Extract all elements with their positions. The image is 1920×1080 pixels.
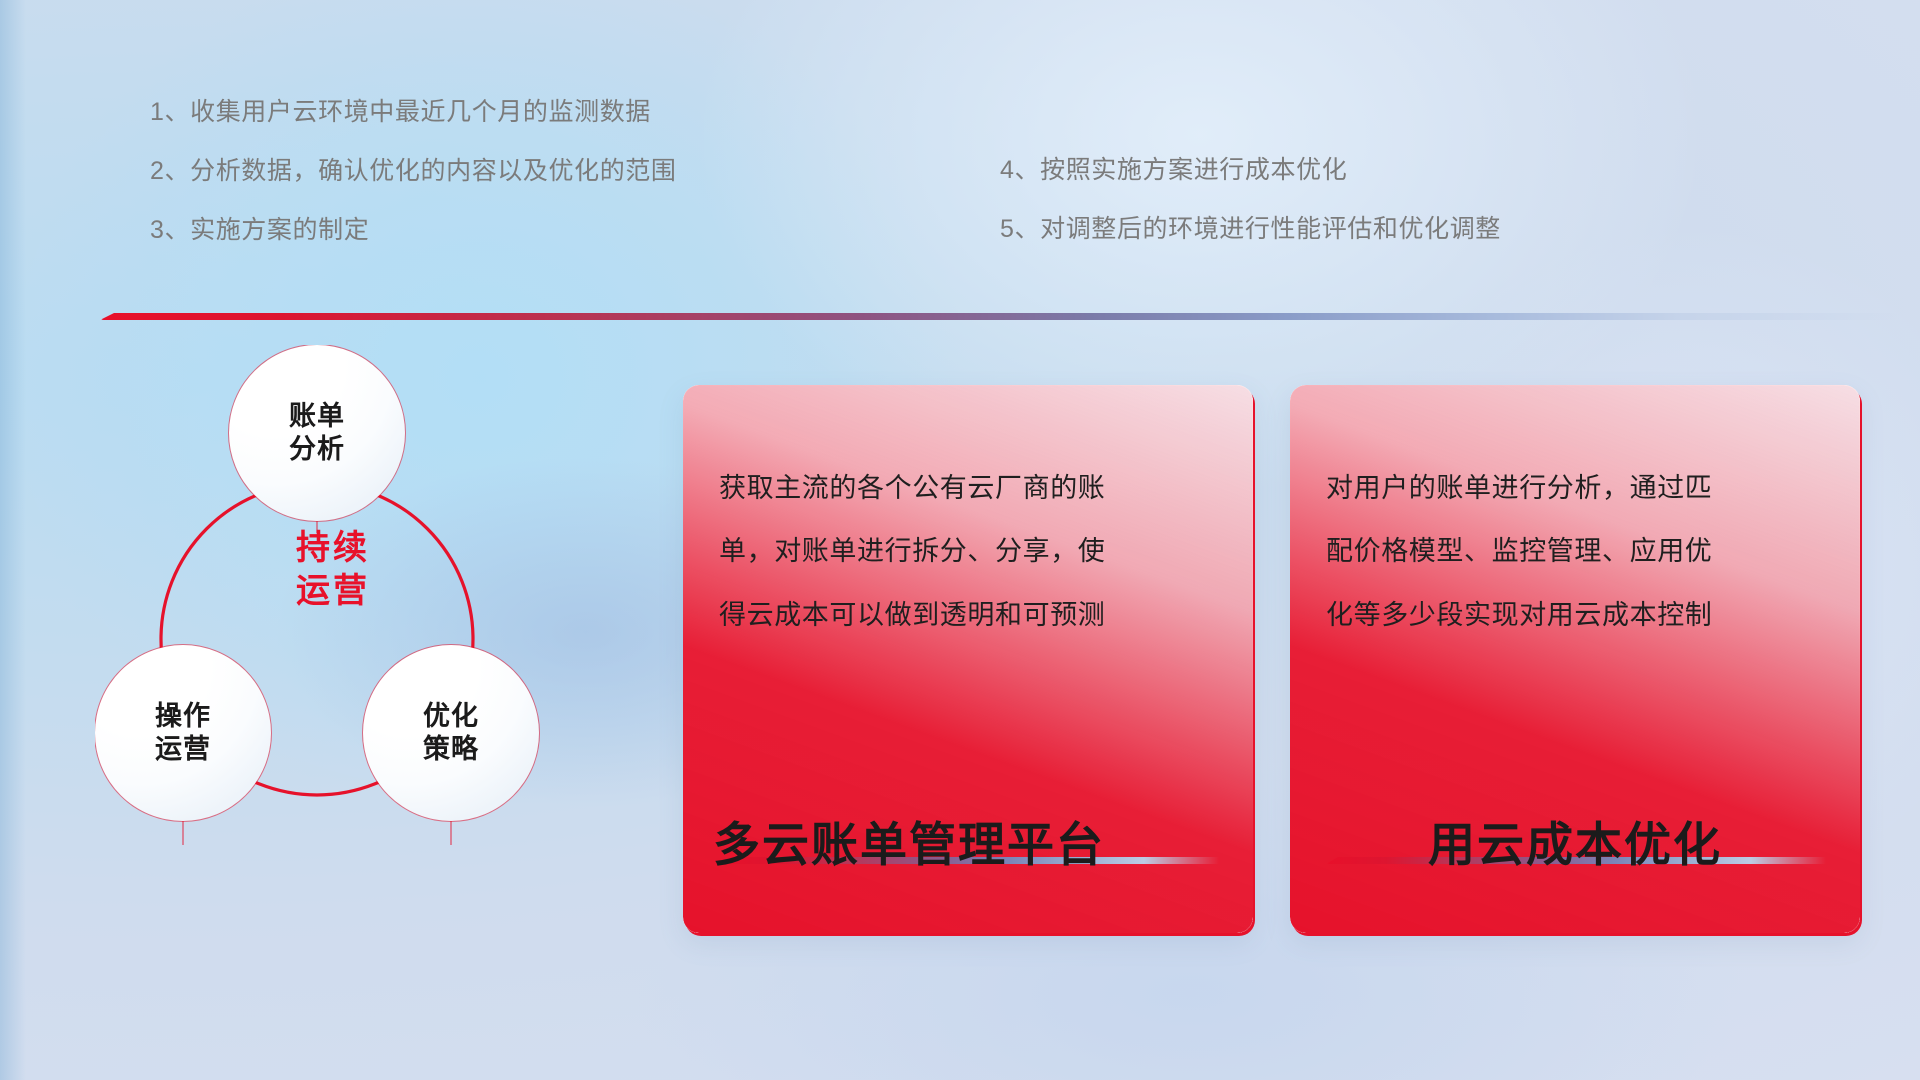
feature-card-cloud-cost-optimization[interactable]: 对用户的账单进行分析，通过匹 配价格模型、监控管理、应用优 化等多少段实现对用云… <box>1290 385 1860 933</box>
card-description-line: 得云成本可以做到透明和可预测 <box>719 584 1223 647</box>
node-label-line2: 分析 <box>289 433 345 466</box>
node-label-line1: 优化 <box>423 700 479 733</box>
card-description-line: 配价格模型、监控管理、应用优 <box>1326 520 1830 583</box>
node-label-line2: 策略 <box>423 733 479 766</box>
card-description: 对用户的账单进行分析，通过匹 配价格模型、监控管理、应用优 化等多少段实现对用云… <box>1326 457 1830 647</box>
node-label-line1: 操作 <box>155 700 211 733</box>
node-label-line1: 账单 <box>289 400 345 433</box>
steps-list-left: 1、收集用户云环境中最近几个月的监测数据 2、分析数据，确认优化的内容以及优化的… <box>150 100 677 243</box>
step-item: 2、分析数据，确认优化的内容以及优化的范围 <box>150 159 677 184</box>
diagram-center-label: 持续 运营 <box>243 527 423 612</box>
section-divider-rule <box>100 313 1900 320</box>
card-title: 多云账单管理平台 <box>713 806 1223 875</box>
continuous-operation-diagram: 账单 分析 操作 运营 优化 策略 持续 运营 <box>95 345 655 955</box>
card-description-line: 化等多少段实现对用云成本控制 <box>1326 584 1830 647</box>
card-description-line: 单，对账单进行拆分、分享，使 <box>719 520 1223 583</box>
card-description: 获取主流的各个公有云厂商的账 单，对账单进行拆分、分享，使 得云成本可以做到透明… <box>719 457 1223 647</box>
step-item: 3、实施方案的制定 <box>150 218 677 243</box>
center-label-line1: 持续 <box>243 527 423 570</box>
step-item: 5、对调整后的环境进行性能评估和优化调整 <box>1000 217 1501 242</box>
node-label-line2: 运营 <box>155 733 211 766</box>
step-item: 4、按照实施方案进行成本优化 <box>1000 158 1501 183</box>
diagram-node-optimization-strategy[interactable]: 优化 策略 <box>363 645 539 821</box>
background-edge-left <box>0 0 26 1080</box>
card-title: 用云成本优化 <box>1290 806 1860 875</box>
card-description-line: 对用户的账单进行分析，通过匹 <box>1326 457 1830 520</box>
feature-card-multicloud-billing[interactable]: 获取主流的各个公有云厂商的账 单，对账单进行拆分、分享，使 得云成本可以做到透明… <box>683 385 1253 933</box>
diagram-node-operations[interactable]: 操作 运营 <box>95 645 271 821</box>
steps-list-right: 4、按照实施方案进行成本优化 5、对调整后的环境进行性能评估和优化调整 <box>1000 158 1501 242</box>
step-item: 1、收集用户云环境中最近几个月的监测数据 <box>150 100 677 125</box>
card-description-line: 获取主流的各个公有云厂商的账 <box>719 457 1223 520</box>
diagram-node-bill-analysis[interactable]: 账单 分析 <box>229 345 405 521</box>
center-label-line2: 运营 <box>243 570 423 613</box>
